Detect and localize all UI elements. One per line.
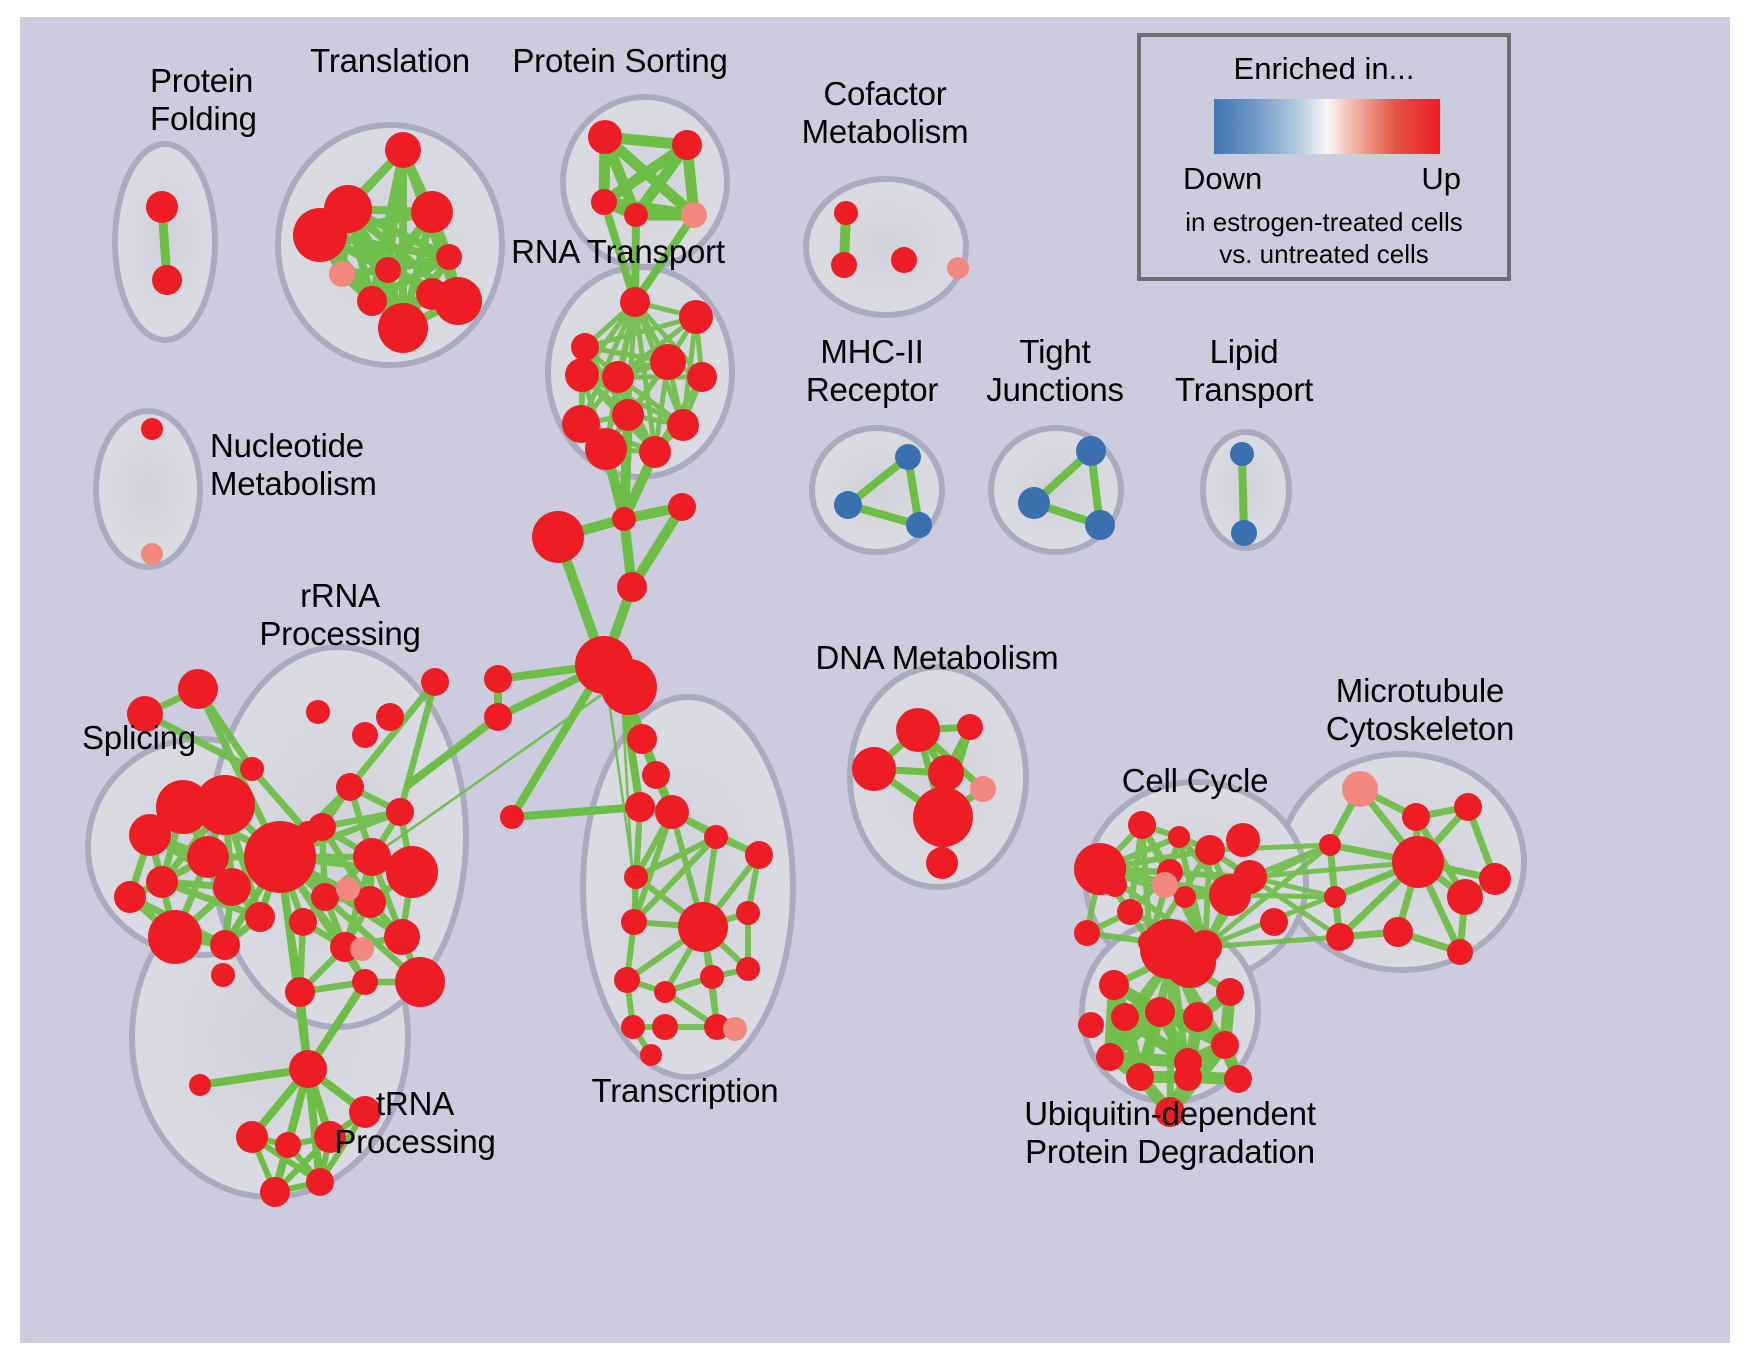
node: [311, 883, 339, 911]
label-lipid-transport: Lipid Transport: [1175, 333, 1313, 409]
node: [621, 1015, 645, 1039]
node: [672, 130, 702, 160]
label-ubiquitin-degradation: Ubiquitin-dependent Protein Degradation: [1024, 1095, 1316, 1171]
node: [700, 965, 724, 989]
node: [306, 1168, 334, 1196]
legend-title: Enriched in...: [1141, 51, 1507, 87]
node: [612, 507, 636, 531]
node: [913, 787, 973, 847]
node: [639, 436, 671, 468]
label-dna-metabolism: DNA Metabolism: [816, 639, 1059, 677]
node: [1195, 835, 1225, 865]
node: [834, 491, 862, 519]
node: [1454, 793, 1482, 821]
node: [1383, 917, 1413, 947]
label-splicing: Splicing: [82, 719, 196, 757]
node: [1128, 811, 1156, 839]
node: [178, 669, 218, 709]
figure-root: Protein Folding Translation Protein Sort…: [0, 0, 1750, 1360]
node: [1479, 863, 1511, 895]
node: [1324, 886, 1346, 908]
label-translation: Translation: [310, 42, 470, 80]
node: [195, 775, 255, 835]
node: [834, 201, 858, 225]
node: [1078, 1012, 1104, 1038]
label-nucleotide-metabolism: Nucleotide Metabolism: [210, 427, 377, 503]
node: [1111, 1003, 1139, 1031]
legend-up-label: Up: [1421, 161, 1461, 197]
node: [588, 120, 622, 154]
node: [654, 981, 676, 1003]
node: [436, 244, 462, 270]
node: [642, 761, 670, 789]
node: [146, 866, 178, 898]
node: [1076, 436, 1106, 466]
node: [385, 132, 421, 168]
node: [114, 881, 146, 913]
node: [386, 798, 414, 826]
node: [928, 755, 964, 791]
node: [571, 333, 599, 361]
node: [275, 1132, 301, 1158]
node: [1260, 908, 1288, 936]
node: [1226, 823, 1260, 857]
node: [1230, 442, 1254, 466]
node: [1074, 920, 1100, 946]
label-protein-sorting: Protein Sorting: [512, 42, 727, 80]
node: [1174, 1063, 1202, 1091]
label-cofactor-metabolism: Cofactor Metabolism: [802, 75, 969, 151]
node: [152, 265, 182, 295]
node: [1447, 939, 1473, 965]
node: [1174, 886, 1196, 908]
node: [957, 714, 983, 740]
node: [376, 703, 404, 731]
node: [1018, 487, 1050, 519]
node: [620, 287, 650, 317]
node: [421, 668, 449, 696]
node: [244, 821, 316, 893]
node: [891, 247, 917, 273]
node: [1085, 510, 1115, 540]
node: [1209, 874, 1251, 916]
node: [484, 703, 512, 731]
node: [240, 757, 264, 781]
node: [434, 277, 482, 325]
node: [926, 847, 958, 879]
node: [1117, 899, 1143, 925]
node: [736, 957, 760, 981]
node: [640, 1044, 662, 1066]
node: [602, 361, 634, 393]
node: [484, 665, 512, 693]
node: [532, 511, 584, 563]
legend-colorbar: [1214, 99, 1440, 154]
hull-cofactor-metabolism: [806, 179, 966, 315]
node: [1211, 1031, 1239, 1059]
node: [650, 344, 686, 380]
node: [411, 191, 453, 233]
node: [704, 825, 728, 849]
node: [148, 910, 202, 964]
node: [612, 399, 644, 431]
node: [678, 902, 728, 952]
node: [624, 203, 648, 227]
legend-subtitle-line2: vs. untreated cells: [1141, 239, 1507, 270]
node: [289, 1050, 327, 1088]
node: [668, 493, 696, 521]
network-canvas: Protein Folding Translation Protein Sort…: [20, 17, 1730, 1343]
node: [1319, 834, 1341, 856]
label-rna-transport: RNA Transport: [511, 233, 725, 271]
node: [687, 362, 717, 392]
node: [627, 724, 657, 754]
node: [1126, 1063, 1154, 1091]
node: [906, 512, 932, 538]
node: [260, 1177, 290, 1207]
node: [585, 428, 627, 470]
node: [970, 776, 996, 802]
node: [1168, 826, 1190, 848]
node: [652, 1014, 678, 1040]
node: [386, 846, 438, 898]
node: [289, 908, 317, 936]
node: [329, 261, 355, 287]
node: [350, 937, 374, 961]
node: [1447, 879, 1483, 915]
label-trna-processing: tRNA Processing: [334, 1085, 495, 1161]
node: [308, 813, 336, 841]
node: [601, 659, 657, 715]
node: [336, 877, 360, 901]
node: [146, 191, 178, 223]
node: [141, 418, 163, 440]
node: [1402, 803, 1430, 831]
legend-down-label: Down: [1183, 161, 1262, 197]
node: [395, 957, 445, 1007]
node: [895, 444, 921, 470]
node: [625, 792, 655, 822]
node: [614, 967, 640, 993]
node: [306, 700, 330, 724]
node: [141, 543, 163, 565]
node: [736, 901, 760, 925]
node: [384, 919, 420, 955]
node: [375, 257, 401, 283]
node: [129, 814, 171, 856]
node: [624, 865, 648, 889]
node: [213, 868, 251, 906]
node: [591, 189, 617, 215]
node: [189, 1074, 211, 1096]
node: [211, 963, 235, 987]
node: [1326, 923, 1354, 951]
node: [667, 409, 699, 441]
node: [681, 202, 707, 228]
node: [352, 969, 378, 995]
node: [1231, 520, 1257, 546]
node: [723, 1017, 747, 1041]
legend-box: Enriched in... Down Up in estrogen-treat…: [1137, 33, 1511, 281]
node: [1342, 771, 1378, 807]
node: [1152, 872, 1178, 898]
label-cell-cycle: Cell Cycle: [1122, 762, 1269, 800]
node: [1099, 970, 1129, 1000]
node: [1103, 873, 1127, 897]
node: [245, 902, 275, 932]
node: [1224, 1065, 1252, 1093]
node: [352, 722, 378, 748]
node: [1164, 936, 1216, 988]
node: [1216, 978, 1244, 1006]
label-microtubule-cytoskeleton: Microtubule Cytoskeleton: [1326, 672, 1514, 748]
node: [617, 572, 647, 602]
node: [852, 747, 896, 791]
node: [745, 841, 773, 869]
hull-transcription: [583, 697, 793, 1077]
node: [378, 303, 428, 353]
label-mhc-ii-receptor: MHC-II Receptor: [806, 333, 938, 409]
label-tight-junctions: Tight Junctions: [986, 333, 1124, 409]
node: [896, 708, 940, 752]
label-protein-folding: Protein Folding: [150, 62, 257, 138]
node: [353, 838, 391, 876]
node: [565, 358, 599, 392]
node: [500, 805, 524, 829]
node: [1145, 997, 1175, 1027]
node: [336, 773, 364, 801]
node: [210, 930, 240, 960]
node: [1183, 1002, 1213, 1032]
node: [293, 208, 347, 262]
node: [285, 977, 315, 1007]
node: [831, 252, 857, 278]
label-transcription: Transcription: [592, 1072, 779, 1110]
node: [1392, 836, 1444, 888]
node: [1096, 1043, 1124, 1071]
node: [236, 1121, 268, 1153]
legend-subtitle-line1: in estrogen-treated cells: [1141, 207, 1507, 238]
node: [621, 909, 647, 935]
label-rrna-processing: rRNA Processing: [259, 577, 420, 653]
node: [679, 300, 713, 334]
node: [947, 257, 969, 279]
node: [655, 795, 689, 829]
node: [357, 286, 387, 316]
